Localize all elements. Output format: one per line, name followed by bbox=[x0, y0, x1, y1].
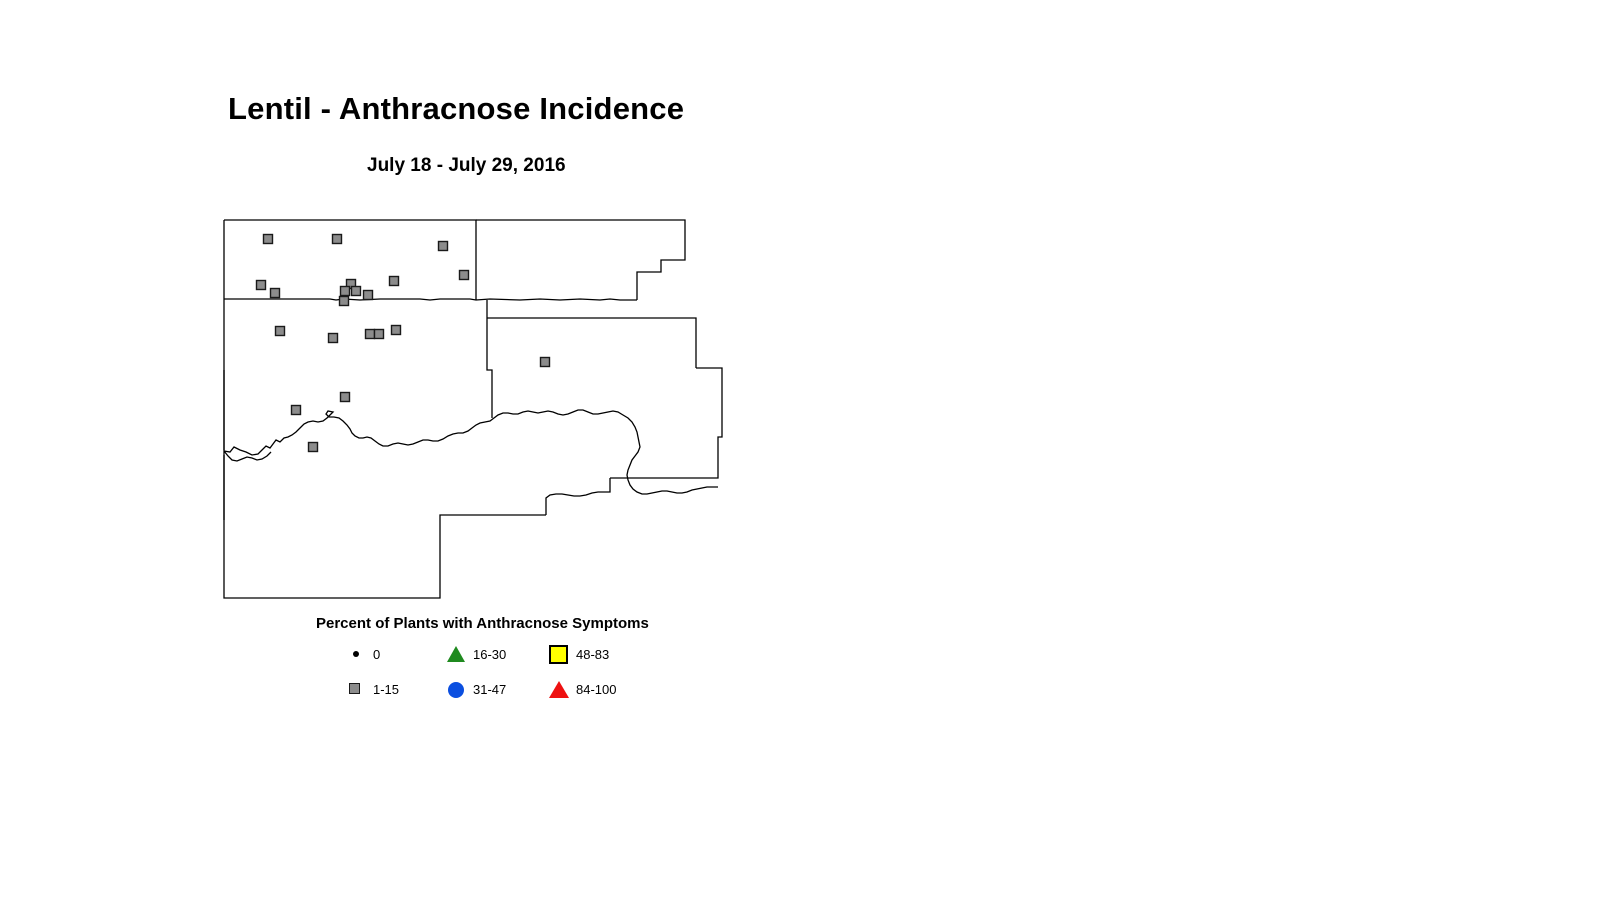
legend-entry-1-15[interactable]: 1-15 bbox=[345, 678, 399, 700]
map-marker[interactable] bbox=[341, 287, 350, 296]
county-north-central-top bbox=[476, 220, 685, 300]
map-marker[interactable] bbox=[392, 326, 401, 335]
map-marker[interactable] bbox=[271, 289, 280, 298]
outer-boundary-west bbox=[224, 220, 546, 598]
data-point-layer bbox=[257, 235, 550, 452]
county-mid-east-east bbox=[610, 368, 722, 478]
legend-label-31-47: 31-47 bbox=[473, 683, 506, 696]
legend-row-2: 1-15 31-47 84-100 bbox=[345, 678, 685, 700]
river-boundary bbox=[224, 410, 718, 494]
legend-title: Percent of Plants with Anthracnose Sympt… bbox=[316, 615, 649, 632]
dot-black-icon bbox=[345, 643, 367, 665]
legend-entry-31-47[interactable]: 31-47 bbox=[445, 678, 506, 700]
legend-label-1-15: 1-15 bbox=[373, 683, 399, 696]
map-marker[interactable] bbox=[541, 358, 550, 367]
circle-blue-icon bbox=[445, 678, 467, 700]
map-marker[interactable] bbox=[276, 327, 285, 336]
legend-label-16-30: 16-30 bbox=[473, 648, 506, 661]
county-line-horizontal bbox=[224, 299, 637, 300]
map-marker[interactable] bbox=[333, 235, 342, 244]
county-mid-east-top bbox=[487, 318, 696, 368]
map-marker[interactable] bbox=[329, 334, 338, 343]
triangle-red-icon bbox=[548, 678, 570, 700]
county-mid-east-west bbox=[487, 318, 492, 418]
map-figure: Lentil - Anthracnose Incidence July 18 -… bbox=[0, 0, 1612, 900]
map-marker[interactable] bbox=[375, 330, 384, 339]
map-marker[interactable] bbox=[352, 287, 361, 296]
map-marker[interactable] bbox=[390, 277, 399, 286]
triangle-green-icon bbox=[445, 643, 467, 665]
map-canvas bbox=[0, 0, 1612, 900]
boundary-south-east-step bbox=[546, 478, 610, 515]
map-marker[interactable] bbox=[292, 406, 301, 415]
square-yellow-icon bbox=[548, 643, 570, 665]
map-marker[interactable] bbox=[439, 242, 448, 251]
map-marker[interactable] bbox=[264, 235, 273, 244]
map-marker[interactable] bbox=[257, 281, 266, 290]
map-marker[interactable] bbox=[364, 291, 373, 300]
map-marker[interactable] bbox=[340, 297, 349, 306]
legend-label-84-100: 84-100 bbox=[576, 683, 616, 696]
map-marker[interactable] bbox=[366, 330, 375, 339]
legend-entry-0[interactable]: 0 bbox=[345, 643, 380, 665]
map-marker[interactable] bbox=[460, 271, 469, 280]
legend-row-1: 0 16-30 48-83 bbox=[345, 643, 685, 665]
square-gray-icon bbox=[345, 678, 367, 700]
legend-label-0: 0 bbox=[373, 648, 380, 661]
legend-entry-84-100[interactable]: 84-100 bbox=[548, 678, 616, 700]
legend-entry-16-30[interactable]: 16-30 bbox=[445, 643, 506, 665]
legend-label-48-83: 48-83 bbox=[576, 648, 609, 661]
map-marker[interactable] bbox=[341, 393, 350, 402]
legend-entry-48-83[interactable]: 48-83 bbox=[548, 643, 609, 665]
map-marker[interactable] bbox=[309, 443, 318, 452]
